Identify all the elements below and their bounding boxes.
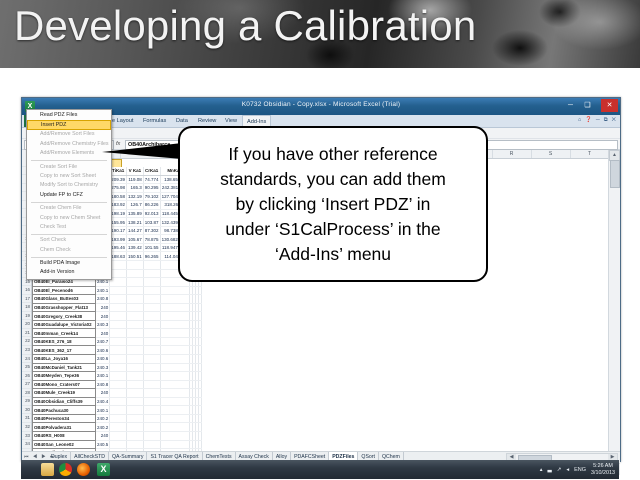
tab-formulas[interactable]: Formulas bbox=[139, 115, 170, 127]
data-cell[interactable] bbox=[143, 355, 160, 364]
sample-name-cell[interactable]: OB40Inman_Creek14 bbox=[33, 329, 96, 338]
data-cell[interactable] bbox=[110, 303, 127, 312]
data-cell[interactable]: 193.99 bbox=[110, 235, 127, 244]
data-cell[interactable]: 138.21 bbox=[127, 218, 144, 227]
data-cell[interactable] bbox=[143, 423, 160, 432]
data-cell[interactable] bbox=[198, 397, 201, 406]
data-cell[interactable] bbox=[143, 312, 160, 321]
data-cell[interactable]: 126.7 bbox=[127, 201, 144, 210]
sample-name-cell[interactable]: OB40KES_362_17 bbox=[33, 346, 96, 355]
row-header[interactable]: 19 bbox=[22, 312, 31, 321]
slide-header-banner: Developing a Calibration bbox=[0, 0, 640, 68]
data-cell[interactable] bbox=[110, 372, 127, 381]
menu-item-chem-check: Chem Check bbox=[27, 246, 111, 255]
system-tray: ▴ ▃ ↗ ◂ ENG 5:26 AM 3/10/2013 bbox=[540, 460, 615, 479]
tray-battery-icon[interactable]: ▃ bbox=[547, 467, 551, 473]
menu-separator bbox=[31, 202, 107, 203]
sample-name-cell[interactable]: OB40RS_H008 bbox=[33, 431, 96, 440]
table-row[interactable]: OB40Obsidian_Cliffs39240.4 bbox=[33, 397, 202, 406]
table-row[interactable]: OB40KES_362_17240.6 bbox=[33, 346, 202, 355]
data-cell[interactable] bbox=[127, 278, 144, 287]
data-cell[interactable] bbox=[127, 269, 144, 278]
row-header[interactable]: 26 bbox=[22, 372, 31, 381]
menu-item-copy-to-new-sort-sheet: Copy to new Sort Sheet bbox=[27, 172, 111, 181]
table-row[interactable]: OB40Pereston34240.2 bbox=[33, 414, 202, 423]
data-cell[interactable] bbox=[110, 440, 127, 449]
data-cell[interactable] bbox=[127, 414, 144, 423]
sample-name-cell[interactable]: OB40Pereston34 bbox=[33, 414, 96, 423]
minimize-button[interactable]: ─ bbox=[562, 99, 579, 112]
chrome-icon[interactable] bbox=[59, 463, 72, 476]
data-cell[interactable] bbox=[127, 312, 144, 321]
data-cell[interactable] bbox=[127, 389, 144, 398]
data-cell[interactable]: 240.1 bbox=[96, 372, 110, 381]
data-cell[interactable]: 79.102 bbox=[143, 192, 160, 201]
data-cell[interactable] bbox=[198, 346, 201, 355]
data-cell[interactable] bbox=[127, 423, 144, 432]
data-cell[interactable] bbox=[160, 380, 189, 389]
data-cell[interactable] bbox=[143, 346, 160, 355]
col-header-s[interactable]: S bbox=[531, 150, 571, 158]
data-cell[interactable]: 275.98 bbox=[110, 184, 127, 193]
row-header[interactable]: 30 bbox=[22, 406, 31, 415]
menu-item-insert-pdz[interactable]: Insert PDZ bbox=[27, 120, 111, 130]
clock-date: 3/10/2013 bbox=[591, 470, 615, 477]
data-cell[interactable] bbox=[160, 286, 189, 295]
data-cell[interactable] bbox=[198, 363, 201, 372]
data-cell[interactable] bbox=[110, 329, 127, 338]
sample-name-cell[interactable]: OB40San_Leone02 bbox=[33, 440, 96, 449]
table-row[interactable]: OB40Gregory_Creek38240 bbox=[33, 312, 202, 321]
data-cell[interactable] bbox=[143, 337, 160, 346]
data-cell[interactable] bbox=[143, 397, 160, 406]
data-cell[interactable]: 150.51 bbox=[127, 252, 144, 261]
row-header[interactable]: 25 bbox=[22, 363, 31, 372]
data-cell[interactable]: 105.67 bbox=[127, 235, 144, 244]
menu-item-add-remove-elements: Add/Remove Elements bbox=[27, 149, 111, 158]
data-cell[interactable] bbox=[127, 397, 144, 406]
close-button[interactable]: ✕ bbox=[601, 99, 618, 112]
table-row[interactable]: OB40Grasshopper_Flat13240 bbox=[33, 303, 202, 312]
row-header[interactable]: 29 bbox=[22, 397, 31, 406]
callout-line-1: If you have other reference bbox=[220, 142, 446, 167]
windows-taskbar: X ▴ ▃ ↗ ◂ ENG 5:26 AM 3/10/2013 bbox=[21, 460, 619, 479]
sample-name-cell[interactable]: OB40La_Joya16 bbox=[33, 355, 96, 364]
data-cell[interactable] bbox=[143, 363, 160, 372]
vertical-scroll-thumb[interactable] bbox=[610, 160, 620, 188]
data-cell[interactable]: 78.875 bbox=[143, 235, 160, 244]
table-row[interactable]: OB40Mono_Craters07240.8 bbox=[33, 380, 202, 389]
data-cell[interactable] bbox=[143, 406, 160, 415]
data-cell[interactable] bbox=[143, 269, 160, 278]
sample-name-cell[interactable]: OB40Grasshopper_Flat13 bbox=[33, 303, 96, 312]
data-cell[interactable]: 101.55 bbox=[143, 243, 160, 252]
data-cell[interactable] bbox=[143, 261, 160, 270]
data-cell[interactable] bbox=[143, 389, 160, 398]
data-cell[interactable] bbox=[143, 286, 160, 295]
sample-name-cell[interactable]: OB40Meyden_Tepe36 bbox=[33, 372, 96, 381]
data-cell[interactable]: 119.08 bbox=[127, 175, 144, 184]
menu-item-add-remove-sort-files: Add/Remove Sort Files bbox=[27, 130, 111, 139]
row-header[interactable]: 20 bbox=[22, 320, 31, 329]
data-cell[interactable] bbox=[110, 431, 127, 440]
column-label: CrKa1 bbox=[143, 167, 160, 175]
data-cell[interactable]: 240.8 bbox=[96, 295, 110, 304]
data-cell[interactable] bbox=[110, 346, 127, 355]
row-header[interactable]: 22 bbox=[22, 337, 31, 346]
excel-taskbar-icon[interactable]: X bbox=[97, 463, 110, 476]
data-cell[interactable]: 240.6 bbox=[96, 346, 110, 355]
sample-name-cell[interactable]: OB40Mule_Creek19 bbox=[33, 389, 96, 398]
table-row[interactable]: OB40La_Joya16240.6 bbox=[33, 355, 202, 364]
data-cell[interactable] bbox=[127, 406, 144, 415]
row-header[interactable]: 24 bbox=[22, 355, 31, 364]
data-cell[interactable] bbox=[127, 363, 144, 372]
ribbon-window-controls[interactable]: ⌂ ❓ ─ ⧉ ✕ bbox=[578, 117, 617, 124]
data-cell[interactable] bbox=[160, 372, 189, 381]
data-cell[interactable] bbox=[160, 312, 189, 321]
data-cell[interactable]: 74.774 bbox=[143, 175, 160, 184]
menu-item-copy-to-new-chem-sheet: Copy to new Chem Sheet bbox=[27, 214, 111, 223]
row-header[interactable]: 34 bbox=[22, 440, 31, 449]
menu-item-check-test: Check Test bbox=[27, 223, 111, 232]
data-cell[interactable] bbox=[127, 337, 144, 346]
row-header[interactable]: 33 bbox=[22, 432, 31, 441]
column-label: V Ka1 bbox=[127, 167, 144, 175]
data-cell[interactable] bbox=[198, 380, 201, 389]
explorer-icon[interactable] bbox=[41, 463, 54, 476]
data-cell[interactable] bbox=[198, 337, 201, 346]
table-row[interactable]: OB40Pachuca30240.1 bbox=[33, 406, 202, 415]
data-cell[interactable]: 240.1 bbox=[96, 286, 110, 295]
table-row[interactable]: OB40Meyden_Tepe36240.1 bbox=[33, 372, 202, 381]
column-label: TiKa1 bbox=[110, 167, 127, 175]
data-cell[interactable]: 180.58 bbox=[110, 192, 127, 201]
data-cell[interactable] bbox=[127, 320, 144, 329]
data-cell[interactable] bbox=[127, 295, 144, 304]
data-cell[interactable]: 144.27 bbox=[127, 226, 144, 235]
data-cell[interactable]: 195.46 bbox=[110, 243, 127, 252]
col-header-t[interactable]: T bbox=[570, 150, 610, 158]
data-cell[interactable] bbox=[198, 372, 201, 381]
menu-item-read-pdz-files[interactable]: Read PDZ Files bbox=[27, 111, 111, 120]
s1calprocess-dropdown-menu: Read PDZ Files Insert PDZ Add/Remove Sor… bbox=[26, 109, 112, 280]
data-cell[interactable]: 240.5 bbox=[96, 440, 110, 449]
data-cell[interactable]: 135.89 bbox=[127, 209, 144, 218]
tray-network-icon[interactable]: ↗ bbox=[557, 467, 562, 473]
sample-name-cell[interactable]: OB40El_Pecenod6 bbox=[33, 286, 96, 295]
table-row[interactable]: OB40RS_H008240 bbox=[33, 431, 202, 440]
menu-separator bbox=[31, 234, 107, 235]
sample-name-cell[interactable]: OB40Pachuca30 bbox=[33, 406, 96, 415]
data-cell[interactable]: 240 bbox=[96, 389, 110, 398]
sample-name-cell[interactable]: OB40Obsidian_Cliffs39 bbox=[33, 397, 96, 406]
data-cell[interactable] bbox=[160, 406, 189, 415]
data-cell[interactable]: 240.3 bbox=[96, 363, 110, 372]
data-cell[interactable]: 240.2 bbox=[96, 414, 110, 423]
data-cell[interactable] bbox=[198, 320, 201, 329]
sample-name-cell[interactable]: OB40Mono_Craters07 bbox=[33, 380, 96, 389]
row-header[interactable]: 17 bbox=[22, 295, 31, 304]
data-cell[interactable]: 240.7 bbox=[96, 337, 110, 346]
data-cell[interactable]: 240.3 bbox=[96, 320, 110, 329]
data-cell[interactable]: 240 bbox=[96, 431, 110, 440]
data-cell[interactable] bbox=[198, 431, 201, 440]
data-cell[interactable]: 240 bbox=[96, 303, 110, 312]
data-cell[interactable]: 240 bbox=[96, 329, 110, 338]
sample-name-cell[interactable]: OB40Guadalupe_Victoria02 bbox=[33, 320, 96, 329]
callout-line-2: standards, you can add them bbox=[220, 167, 446, 192]
data-cell[interactable] bbox=[127, 372, 144, 381]
menu-item-build-pda-image[interactable]: Build PDA Image bbox=[27, 259, 111, 268]
data-cell[interactable] bbox=[160, 346, 189, 355]
tray-volume-icon[interactable]: ◂ bbox=[566, 467, 569, 473]
data-cell[interactable] bbox=[160, 440, 189, 449]
data-cell[interactable] bbox=[198, 423, 201, 432]
menu-item-create-chem-file: Create Chem File bbox=[27, 204, 111, 213]
data-cell[interactable] bbox=[110, 423, 127, 432]
data-cell[interactable]: 139.42 bbox=[127, 243, 144, 252]
data-cell[interactable] bbox=[198, 389, 201, 398]
data-cell[interactable]: 96.265 bbox=[143, 252, 160, 261]
data-cell[interactable] bbox=[198, 286, 201, 295]
page-title: Developing a Calibration bbox=[14, 2, 476, 50]
vertical-scrollbar[interactable]: ▲ bbox=[608, 150, 620, 451]
table-row[interactable]: OB40Glass_Buttes03240.8 bbox=[33, 295, 202, 304]
table-row[interactable]: OB40Guadalupe_Victoria02240.3 bbox=[33, 320, 202, 329]
data-cell[interactable] bbox=[198, 312, 201, 321]
data-cell[interactable] bbox=[143, 414, 160, 423]
menu-separator bbox=[31, 257, 107, 258]
sample-name-cell[interactable]: OB40KES_276_18 bbox=[33, 337, 96, 346]
data-cell[interactable]: 198.19 bbox=[110, 209, 127, 218]
data-cell[interactable] bbox=[160, 389, 189, 398]
data-cell[interactable]: 240.2 bbox=[96, 423, 110, 432]
data-cell[interactable]: 240.4 bbox=[96, 397, 110, 406]
data-cell[interactable]: 190.17 bbox=[110, 226, 127, 235]
data-cell[interactable] bbox=[160, 355, 189, 364]
data-cell[interactable] bbox=[160, 431, 189, 440]
data-cell[interactable] bbox=[160, 414, 189, 423]
data-cell[interactable] bbox=[110, 286, 127, 295]
data-cell[interactable] bbox=[127, 286, 144, 295]
data-cell[interactable] bbox=[198, 329, 201, 338]
callout-line-3: by clicking ‘Insert PDZ’ in bbox=[220, 192, 446, 217]
data-cell[interactable] bbox=[143, 278, 160, 287]
data-cell[interactable] bbox=[127, 440, 144, 449]
data-cell[interactable] bbox=[127, 261, 144, 270]
data-cell[interactable] bbox=[127, 380, 144, 389]
data-cell[interactable]: 86.226 bbox=[143, 201, 160, 210]
menu-separator bbox=[31, 160, 107, 161]
data-cell[interactable] bbox=[110, 269, 127, 278]
data-cell[interactable] bbox=[110, 406, 127, 415]
menu-item-create-sort-file: Create Sort File bbox=[27, 163, 111, 172]
data-cell[interactable] bbox=[160, 329, 189, 338]
data-cell[interactable] bbox=[143, 295, 160, 304]
data-cell[interactable] bbox=[160, 397, 189, 406]
data-cell[interactable] bbox=[110, 320, 127, 329]
data-cell[interactable] bbox=[198, 440, 201, 449]
data-cell[interactable] bbox=[198, 406, 201, 415]
table-row[interactable]: OB40Polvadera31240.2 bbox=[33, 423, 202, 432]
data-cell[interactable]: 92.013 bbox=[143, 209, 160, 218]
col-header-r[interactable]: R bbox=[492, 150, 532, 158]
menu-item-add-in-version[interactable]: Add-in Version bbox=[27, 268, 111, 277]
data-cell[interactable] bbox=[110, 295, 127, 304]
data-cell[interactable]: 90.295 bbox=[143, 184, 160, 193]
data-cell[interactable] bbox=[143, 431, 160, 440]
data-cell[interactable]: 240 bbox=[96, 312, 110, 321]
data-cell[interactable]: 240.6 bbox=[96, 355, 110, 364]
table-row[interactable]: OB40San_Leone02240.5 bbox=[33, 440, 202, 449]
data-cell[interactable] bbox=[110, 363, 127, 372]
sample-name-cell[interactable]: OB40McDaniel_Tank21 bbox=[33, 363, 96, 372]
table-row[interactable]: OB40Inman_Creek14240 bbox=[33, 329, 202, 338]
language-indicator[interactable]: ENG bbox=[574, 467, 586, 473]
data-cell[interactable] bbox=[160, 320, 189, 329]
row-header[interactable]: 32 bbox=[22, 423, 31, 432]
data-cell[interactable]: 209.39 bbox=[110, 175, 127, 184]
table-row[interactable]: OB40El_Pecenod6240.1 bbox=[33, 286, 202, 295]
data-cell[interactable] bbox=[160, 337, 189, 346]
data-cell[interactable] bbox=[160, 363, 189, 372]
table-row[interactable]: OB40McDaniel_Tank21240.3 bbox=[33, 363, 202, 372]
row-header[interactable]: 23 bbox=[22, 346, 31, 355]
sample-name-cell[interactable]: OB40Polvadera31 bbox=[33, 423, 96, 432]
menu-item-add-remove-chem-files: Add/Remove Chemistry Files bbox=[27, 140, 111, 149]
window-title: K0732 Obsidian - Copy.xlsx - Microsoft E… bbox=[22, 101, 620, 108]
row-header[interactable]: 16 bbox=[22, 286, 31, 295]
data-cell[interactable] bbox=[110, 312, 127, 321]
callout-line-5: ‘Add-Ins’ menu bbox=[220, 242, 446, 267]
data-cell[interactable] bbox=[160, 423, 189, 432]
data-cell[interactable] bbox=[110, 380, 127, 389]
row-header[interactable]: 18 bbox=[22, 303, 31, 312]
data-cell[interactable]: 183.92 bbox=[110, 201, 127, 210]
data-cell[interactable]: 240.8 bbox=[96, 380, 110, 389]
data-cell[interactable] bbox=[110, 355, 127, 364]
sample-name-cell[interactable]: OB40Gregory_Creek38 bbox=[33, 312, 96, 321]
data-cell[interactable]: 87.302 bbox=[143, 226, 160, 235]
clock-time: 5:26 AM bbox=[591, 463, 615, 470]
data-cell[interactable] bbox=[143, 320, 160, 329]
callout-text: If you have other reference standards, y… bbox=[212, 142, 454, 267]
row-header[interactable]: 31 bbox=[22, 414, 31, 423]
data-cell[interactable] bbox=[127, 431, 144, 440]
data-cell[interactable]: 188.63 bbox=[110, 252, 127, 261]
data-cell[interactable] bbox=[110, 278, 127, 287]
data-cell[interactable] bbox=[110, 397, 127, 406]
data-cell[interactable] bbox=[143, 372, 160, 381]
firefox-icon[interactable] bbox=[77, 463, 90, 476]
data-cell[interactable]: 155.95 bbox=[110, 218, 127, 227]
data-cell[interactable] bbox=[198, 414, 201, 423]
data-cell[interactable] bbox=[127, 303, 144, 312]
taskbar-clock[interactable]: 5:26 AM 3/10/2013 bbox=[591, 463, 615, 477]
data-cell[interactable] bbox=[110, 414, 127, 423]
row-header[interactable]: 27 bbox=[22, 380, 31, 389]
data-cell[interactable] bbox=[110, 389, 127, 398]
data-cell[interactable] bbox=[198, 355, 201, 364]
data-cell[interactable] bbox=[110, 261, 127, 270]
sample-name-cell[interactable]: OB40Glass_Buttes03 bbox=[33, 295, 96, 304]
data-cell[interactable] bbox=[127, 329, 144, 338]
callout-line-4: under ‘S1CalProcess’ in the bbox=[220, 217, 446, 242]
data-cell[interactable] bbox=[110, 337, 127, 346]
table-row[interactable]: OB40KES_276_18240.7 bbox=[33, 337, 202, 346]
data-cell[interactable] bbox=[143, 440, 160, 449]
menu-item-modify-sort-to-chemistry: Modify Sort to Chemistry bbox=[27, 181, 111, 190]
maximize-button[interactable]: ❑ bbox=[579, 99, 596, 112]
data-cell[interactable] bbox=[198, 303, 201, 312]
data-cell[interactable] bbox=[143, 303, 160, 312]
row-header[interactable]: 21 bbox=[22, 329, 31, 338]
data-cell[interactable]: 165.3 bbox=[127, 184, 144, 193]
data-cell[interactable] bbox=[160, 303, 189, 312]
menu-item-sort-check: Sort Check bbox=[27, 236, 111, 245]
callout-tail bbox=[100, 143, 182, 161]
data-cell[interactable]: 240.1 bbox=[96, 406, 110, 415]
data-cell[interactable]: 132.19 bbox=[127, 192, 144, 201]
data-cell[interactable] bbox=[160, 295, 189, 304]
tray-show-hidden-icon[interactable]: ▴ bbox=[540, 467, 543, 473]
data-cell[interactable] bbox=[143, 380, 160, 389]
data-cell[interactable] bbox=[143, 329, 160, 338]
data-cell[interactable]: 103.87 bbox=[143, 218, 160, 227]
callout-bubble: If you have other reference standards, y… bbox=[178, 126, 488, 282]
row-header[interactable]: 28 bbox=[22, 389, 31, 398]
data-cell[interactable] bbox=[127, 355, 144, 364]
menu-item-update-fp-to-cfz[interactable]: Update FP to CFZ bbox=[27, 191, 111, 200]
data-cell[interactable] bbox=[127, 346, 144, 355]
data-cell[interactable] bbox=[198, 295, 201, 304]
table-row[interactable]: OB40Mule_Creek19240 bbox=[33, 389, 202, 398]
